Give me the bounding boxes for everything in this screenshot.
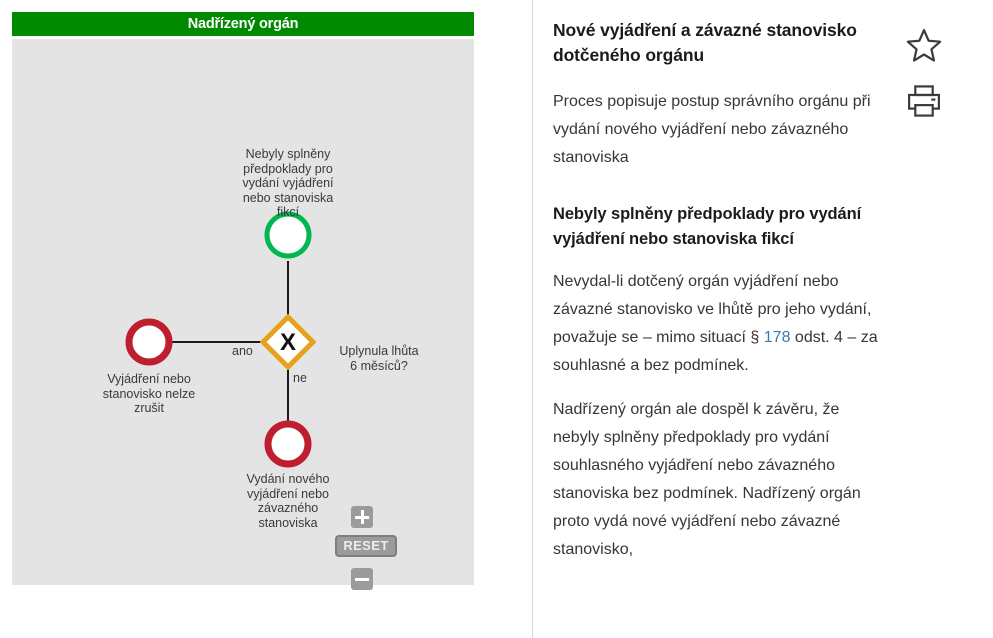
end-event-issue-new-label: Vydání nového vyjádření nebo závazného s… [226,472,350,530]
zoom-reset-button[interactable]: RESET [335,535,397,557]
gateway-label: Uplynula lhůta 6 měsíců? [324,344,434,373]
section-paragraph-2: Nadřízený orgán ale dospěl k závěru, že … [553,396,883,564]
process-lead-paragraph: Proces popisuje postup správního orgánu … [553,88,883,172]
gateway-x-marker: X [280,329,296,356]
zoom-in-button[interactable] [351,506,373,528]
end-event-issue-new-node[interactable] [261,417,315,471]
zoom-controls: RESET [335,506,405,590]
action-icons [905,26,949,138]
start-event-label: Nebyly splněny předpoklady pro vydání vy… [220,147,356,220]
end-event-cannot-cancel-label: Vyjádření nebo stanovisko nelze zrušit [87,372,211,416]
exclusive-gateway-node[interactable]: X [260,314,316,370]
law-reference-link[interactable]: 178 [764,329,791,346]
edge-label-ne: ne [293,371,307,385]
diagram-pane: Nadřízený orgán [0,0,532,638]
app-root: Nadřízený orgán [0,0,993,638]
printer-icon[interactable] [905,82,943,120]
detail-pane: Nové vyjádření a závazné stanovisko dotč… [532,0,993,638]
detail-content: Nové vyjádření a závazné stanovisko dotč… [553,0,883,638]
pool-body: Nebyly splněny předpoklady pro vydání vy… [12,39,474,585]
star-icon[interactable] [905,26,943,64]
section-heading: Nebyly splněny předpoklady pro vydání vy… [553,202,883,252]
page-title: Nové vyjádření a závazné stanovisko dotč… [553,18,883,68]
edge-label-ano: ano [232,344,253,358]
pool-title: Nadřízený orgán [12,12,474,36]
end-event-cannot-cancel-node[interactable] [122,315,176,369]
bpmn-canvas[interactable]: Nebyly splněny předpoklady pro vydání vy… [12,39,474,585]
section-paragraph-1: Nevydal-li dotčený orgán vyjádření nebo … [553,268,883,380]
zoom-out-button[interactable] [351,568,373,590]
bpmn-pool: Nadřízený orgán [12,12,474,585]
